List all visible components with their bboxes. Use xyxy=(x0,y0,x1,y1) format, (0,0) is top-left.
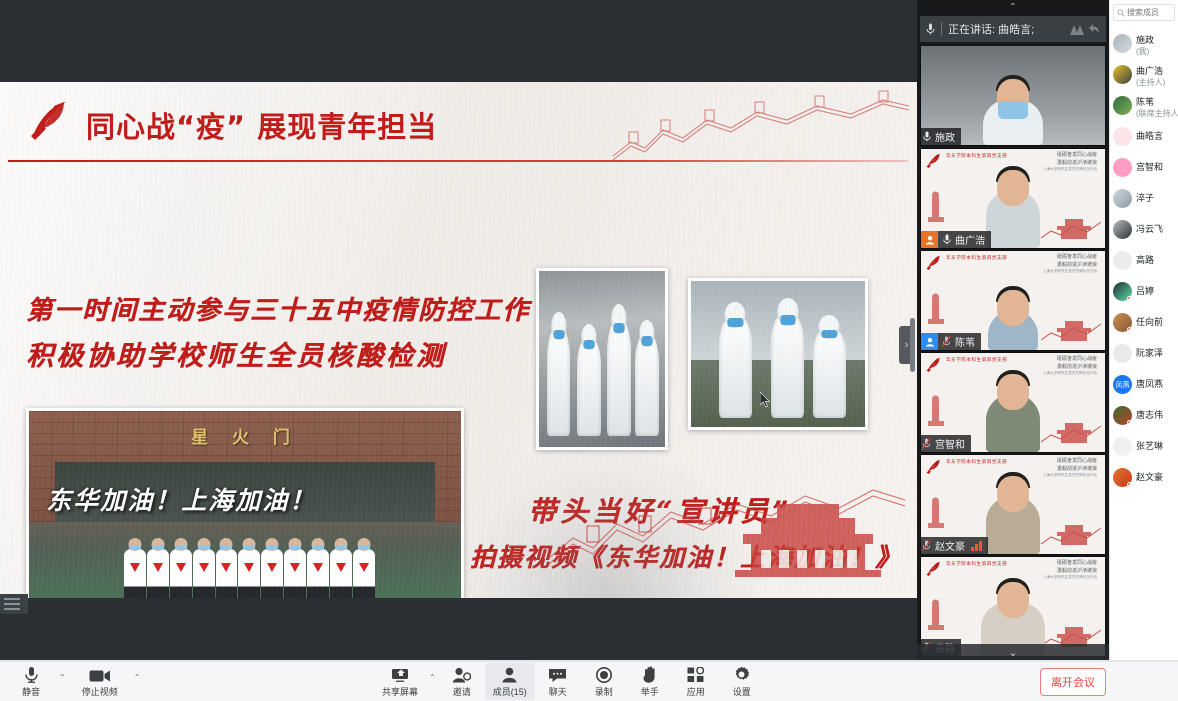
avatar: 凤燕 xyxy=(1113,375,1132,394)
camera-icon xyxy=(89,666,111,683)
participant-name: 宫智和 xyxy=(1136,162,1163,172)
chat-label: 聊天 xyxy=(549,685,567,698)
video-tile-3[interactable]: 华东学院本科生第四党支部 砥砺奋发同心战疫 勇毅前进沪渎坡浪 上海大学研究生党员… xyxy=(920,250,1106,351)
photo-overlay-text: 东华加油！上海加油！ xyxy=(46,481,443,517)
great-wall-decoration-icon xyxy=(1041,408,1103,448)
participants-panel[interactable]: 施政 (我) 曲广浩 (主持人) 陈苇 (联席主持人) xyxy=(1109,0,1178,660)
participant-name: 陈苇 xyxy=(1136,97,1154,107)
video-tile-label-1: 施政 xyxy=(921,128,961,145)
title-divider xyxy=(8,160,908,162)
party-emblem-icon xyxy=(925,254,942,271)
virtual-bg-text-right: 砥砺奋发同心战疫 勇毅前进沪渎坡浪 上海大学研究生党员先锋队在行动 xyxy=(1043,356,1097,376)
video-tile-name-3: 陈苇 xyxy=(955,334,975,349)
gear-icon xyxy=(733,666,750,683)
stop-video-label: 停止视频 xyxy=(82,685,118,698)
great-wall-decoration-icon xyxy=(1041,510,1103,550)
monument-icon xyxy=(923,497,949,529)
participant-name: 吕婷 xyxy=(1136,286,1154,296)
participant-row-4[interactable]: 曲皓言 xyxy=(1110,121,1178,152)
party-emblem-icon xyxy=(925,458,942,475)
avatar xyxy=(1113,65,1132,84)
share-options-caret[interactable]: ⌃ xyxy=(426,673,439,682)
mute-options-caret[interactable]: ⌃ xyxy=(56,673,69,682)
participant-row-14[interactable]: 张艺琳 xyxy=(1110,431,1178,462)
participants-icon xyxy=(500,666,519,683)
participant-role: (我) xyxy=(1136,48,1154,57)
slide-title: 同心战“疫” 展现青年担当 xyxy=(86,104,437,146)
participant-video-image xyxy=(986,190,1040,248)
head xyxy=(997,582,1029,618)
participant-video-image xyxy=(988,310,1038,350)
video-tile-5[interactable]: 华东学院本科生第四党支部 砥砺奋发同心战疫 勇毅前进沪渎坡浪 上海大学研究生党员… xyxy=(920,454,1106,555)
stop-video-button[interactable]: 停止视频 xyxy=(71,663,129,700)
participant-info: 陈苇 (联席主持人) xyxy=(1136,92,1178,119)
ppt-menu-icon[interactable] xyxy=(0,594,28,614)
party-emblem-icon xyxy=(925,356,942,373)
video-tile-label-5: 赵文豪 xyxy=(921,537,988,554)
participant-name: 张艺琳 xyxy=(1136,441,1163,451)
status-dot xyxy=(1127,327,1132,332)
virtual-bg-text-left: 华东学院本科生第四党支部 xyxy=(946,153,1007,159)
participant-name: 任向前 xyxy=(1136,317,1163,327)
raise-hand-button[interactable]: 举手 xyxy=(627,663,673,700)
avatar xyxy=(1113,282,1132,301)
participant-row-2[interactable]: 曲广浩 (主持人) xyxy=(1110,59,1178,90)
share-screen-icon xyxy=(390,666,410,683)
record-label: 录制 xyxy=(595,685,613,698)
participant-row-6[interactable]: 淬子 xyxy=(1110,183,1178,214)
share-screen-label: 共享屏幕 xyxy=(382,685,418,698)
video-options-caret[interactable]: ⌃ xyxy=(131,673,144,682)
video-tile-2[interactable]: 华东学院本科生第四党支部 砥砺奋发同心战疫 勇毅前进沪渎坡浪 上海大学研究生党员… xyxy=(920,148,1106,249)
monument-icon xyxy=(923,395,949,427)
video-tile-label-2: 曲广浩 xyxy=(921,231,991,248)
monument-icon xyxy=(923,599,949,631)
participant-role: (联席主持人) xyxy=(1136,110,1178,119)
participants-label: 成员(15) xyxy=(493,685,527,698)
virtual-bg-text-right: 砥砺奋发同心战疫 勇毅前进沪渎坡浪 上海大学研究生党员先锋队在行动 xyxy=(1043,560,1097,580)
virtual-bg-text-right: 砥砺奋发同心战疫 勇毅前进沪渎坡浪 上海大学研究生党员先锋队在行动 xyxy=(1043,152,1097,172)
avatar xyxy=(1113,34,1132,53)
video-thumbnail-strip[interactable]: ⌃ 正在讲话: 曲皓言; xyxy=(917,0,1109,660)
participants-search-wrap xyxy=(1110,0,1178,23)
invite-button[interactable]: 邀请 xyxy=(439,663,485,700)
participant-row-10[interactable]: 任向前 xyxy=(1110,307,1178,338)
video-tile-name-1: 施政 xyxy=(935,129,955,144)
microphone-icon xyxy=(24,666,39,683)
virtual-bg-banner: 华东学院本科生第四党支部 砥砺奋发同心战疫 勇毅前进沪渎坡浪 上海大学研究生党员… xyxy=(921,251,1105,277)
party-emblem-icon xyxy=(24,96,72,144)
settings-label: 设置 xyxy=(733,685,751,698)
video-tile-label-4: 宫智和 xyxy=(921,435,971,452)
presentation-slide[interactable]: 同心战“疫” 展现青年担当 第一时间主动参与三十五中疫情防控工作 xyxy=(0,82,917,598)
active-speaker-label: 正在讲话: 曲皓言; xyxy=(948,21,1034,37)
participant-video-image xyxy=(986,394,1040,452)
slide-photo-students: 星 火 门 东华加油！上海加油！ xyxy=(26,408,464,598)
participant-name: 曲皓言 xyxy=(1136,131,1163,141)
settings-button[interactable]: 设置 xyxy=(719,663,765,700)
video-tile-name-5: 赵文豪 xyxy=(935,538,965,553)
monument-icon xyxy=(923,191,949,223)
apps-label: 应用 xyxy=(687,685,705,698)
party-emblem-icon xyxy=(925,560,942,577)
avatar xyxy=(1113,468,1132,487)
status-dot xyxy=(1127,482,1132,487)
cohost-badge-icon xyxy=(921,333,938,350)
participant-row-12[interactable]: 凤燕 唐凤燕 xyxy=(1110,369,1178,400)
participant-name: 施政 xyxy=(1136,35,1154,45)
party-emblem-icon xyxy=(925,152,942,169)
avatar xyxy=(1113,127,1132,146)
participant-row-5[interactable]: 宫智和 xyxy=(1110,152,1178,183)
video-tile-6[interactable]: 华东学院本科生第四党支部 砥砺奋发同心战疫 勇毅前进沪渎坡浪 上海大学研究生党员… xyxy=(920,556,1106,657)
mute-label: 静音 xyxy=(22,685,40,698)
virtual-bg-text-left: 华东学院本科生第四党支部 xyxy=(946,459,1007,465)
video-tile-4[interactable]: 华东学院本科生第四党支部 砥砺奋发同心战疫 勇毅前进沪渎坡浪 上海大学研究生党员… xyxy=(920,352,1106,453)
status-dot xyxy=(1127,420,1132,425)
shared-screen-area[interactable]: 同心战“疫” 展现青年担当 第一时间主动参与三十五中疫情防控工作 xyxy=(0,0,917,660)
participant-row-1[interactable]: 施政 (我) xyxy=(1110,28,1178,59)
toolbar-right-group[interactable]: 离开会议 xyxy=(1040,661,1106,701)
participant-name: 冯云飞 xyxy=(1136,224,1163,234)
participant-row-9[interactable]: 吕婷 xyxy=(1110,276,1178,307)
meeting-toolbar[interactable]: 静音 ⌃ 停止视频 ⌃ 共享屏幕 ⌃ xyxy=(0,660,1178,701)
participant-name: 唐志伟 xyxy=(1136,410,1163,420)
raise-hand-icon xyxy=(642,666,658,683)
great-wall-decoration-icon xyxy=(611,86,911,162)
avatar xyxy=(1113,313,1132,332)
students-group xyxy=(124,537,375,598)
audio-level-indicator xyxy=(971,541,982,551)
avatar xyxy=(1113,158,1132,177)
search-icon xyxy=(1117,9,1125,17)
search-box[interactable] xyxy=(1113,4,1175,21)
toolbar-center-group[interactable]: 共享屏幕 ⌃ 邀请 成员(15) 聊天 xyxy=(374,661,765,701)
participant-name: 淬子 xyxy=(1136,193,1154,203)
mic-muted-icon xyxy=(921,438,932,449)
raise-hand-label: 举手 xyxy=(641,685,659,698)
head xyxy=(997,374,1029,410)
back-icon[interactable] xyxy=(1089,24,1100,34)
slide-header: 同心战“疫” 展现青年担当 xyxy=(0,82,917,162)
participant-name: 曲广浩 xyxy=(1136,66,1163,76)
toolbar-left-group[interactable]: 静音 ⌃ 停止视频 ⌃ xyxy=(8,661,143,701)
participant-video-image xyxy=(986,496,1040,554)
head xyxy=(997,476,1029,512)
participant-row-15[interactable]: 赵文豪 xyxy=(1110,462,1178,493)
virtual-bg-text-right: 砥砺奋发同心战疫 勇毅前进沪渎坡浪 上海大学研究生党员先锋队在行动 xyxy=(1043,254,1097,274)
participant-name: 赵文豪 xyxy=(1136,472,1163,482)
video-tile-name-4: 宫智和 xyxy=(935,436,965,451)
status-dot xyxy=(1127,296,1132,301)
participant-row-7[interactable]: 冯云飞 xyxy=(1110,214,1178,245)
video-tile-name-2: 曲广浩 xyxy=(955,232,985,247)
participant-info: 曲广浩 (主持人) xyxy=(1136,61,1165,88)
avatar xyxy=(1113,189,1132,208)
search-input[interactable] xyxy=(1127,8,1171,17)
slide-text-line-1: 第一时间主动参与三十五中疫情防控工作 xyxy=(26,290,530,327)
record-button[interactable]: 录制 xyxy=(581,663,627,700)
apps-grid-icon xyxy=(687,666,704,683)
mic-muted-icon xyxy=(941,336,952,347)
great-wall-tiananmen-decoration-icon xyxy=(547,408,907,598)
virtual-bg-text-left: 华东学院本科生第四党支部 xyxy=(946,255,1007,261)
participant-row-11[interactable]: 阮家泽 xyxy=(1110,338,1178,369)
mic-on-icon xyxy=(941,234,952,245)
avatar xyxy=(1113,220,1132,239)
video-tile-label-3: 陈苇 xyxy=(921,333,981,350)
view-icon[interactable] xyxy=(1070,24,1084,35)
participant-info: 施政 (我) xyxy=(1136,30,1154,57)
participant-name: 唐凤燕 xyxy=(1136,379,1163,389)
thumbnails-scroll-down-button[interactable]: ⌄ xyxy=(917,644,1109,660)
zoom-meeting-window: 同心战“疫” 展现青年担当 第一时间主动参与三十五中疫情防控工作 xyxy=(0,0,1178,701)
speaker-bar-actions[interactable] xyxy=(1070,24,1100,35)
avatar xyxy=(1113,96,1132,115)
slide-text-line-2: 积极协助学校师生全员核酸检测 xyxy=(26,334,446,373)
participant-row-3[interactable]: 陈苇 (联席主持人) xyxy=(1110,90,1178,121)
record-circle-icon xyxy=(596,666,612,683)
face-mask xyxy=(998,101,1028,119)
great-wall-decoration-icon xyxy=(1041,306,1103,346)
avatar xyxy=(1113,251,1132,270)
speaker-bar-divider xyxy=(941,22,942,36)
leave-meeting-button[interactable]: 离开会议 xyxy=(1040,668,1106,696)
mute-button[interactable]: 静音 xyxy=(8,663,54,700)
participant-name: 高路 xyxy=(1136,255,1154,265)
apps-button[interactable]: 应用 xyxy=(673,663,719,700)
chat-button[interactable]: 聊天 xyxy=(535,663,581,700)
mic-icon xyxy=(926,23,935,35)
host-badge-icon xyxy=(921,231,938,248)
chat-bubble-icon xyxy=(548,666,567,683)
participant-row-8[interactable]: 高路 xyxy=(1110,245,1178,276)
head xyxy=(997,170,1029,206)
virtual-bg-text-left: 华东学院本科生第四党支部 xyxy=(946,357,1007,363)
head xyxy=(997,290,1029,326)
mouse-cursor xyxy=(760,392,771,408)
avatar xyxy=(1113,437,1132,456)
great-wall-decoration-icon xyxy=(1041,204,1103,244)
participants-list[interactable]: 施政 (我) 曲广浩 (主持人) 陈苇 (联席主持人) xyxy=(1110,23,1178,493)
mic-on-icon xyxy=(921,131,932,142)
monument-icon xyxy=(923,293,949,325)
gate-sign-text: 星 火 门 xyxy=(172,423,319,459)
active-speaker-bar: 正在讲话: 曲皓言; xyxy=(920,16,1106,42)
video-tile-1[interactable]: 施政 xyxy=(920,45,1106,146)
virtual-bg-text-left: 华东学院本科生第四党支部 xyxy=(946,561,1007,567)
participant-name: 阮家泽 xyxy=(1136,348,1163,358)
virtual-bg-text-right: 砥砺奋发同心战疫 勇毅前进沪渎坡浪 上海大学研究生党员先锋队在行动 xyxy=(1043,458,1097,478)
avatar xyxy=(1113,406,1132,425)
participant-row-13[interactable]: 唐志伟 xyxy=(1110,400,1178,431)
participant-role: (主持人) xyxy=(1136,79,1165,88)
avatar xyxy=(1113,344,1132,363)
mic-muted-icon xyxy=(921,540,932,551)
share-screen-button[interactable]: 共享屏幕 xyxy=(374,663,426,700)
participants-button[interactable]: 成员(15) xyxy=(485,663,535,700)
invite-person-icon xyxy=(452,666,471,683)
share-scrollbar[interactable] xyxy=(910,318,915,372)
participant-video-image xyxy=(983,99,1043,145)
thumbnails-scroll-up-button[interactable]: ⌃ xyxy=(917,0,1109,14)
invite-label: 邀请 xyxy=(453,685,471,698)
